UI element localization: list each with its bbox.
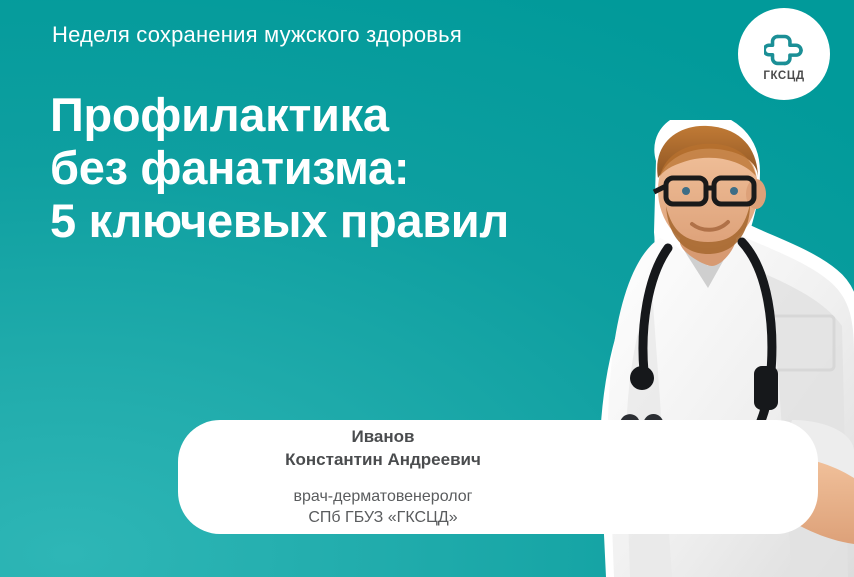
campaign-eyebrow-text: Неделя сохранения мужского здоровья [52, 22, 462, 48]
speaker-surname: Иванов [285, 426, 481, 449]
speaker-specialty: врач-дерматовенеролог [294, 486, 473, 507]
page-title: Профилактика без фанатизма: 5 ключевых п… [50, 88, 509, 247]
headline-line-3: 5 ключевых правил [50, 194, 509, 247]
speaker-card: Иванов Константин Андреевич врач-дермато… [178, 420, 818, 534]
speaker-role: врач-дерматовенеролог СПб ГБУЗ «ГКСЦД» [294, 486, 473, 528]
logo-abbreviation: ГКСЦД [763, 70, 804, 82]
speaker-given-name: Константин Андреевич [285, 449, 481, 472]
promo-banner: Неделя сохранения мужского здоровья Проф… [0, 0, 854, 577]
speaker-name: Иванов Константин Андреевич [285, 426, 481, 472]
logo-badge: ГКСЦД [738, 8, 830, 100]
headline-line-1: Профилактика [50, 88, 509, 141]
medical-cross-icon [764, 29, 804, 67]
headline-line-2: без фанатизма: [50, 141, 509, 194]
speaker-organization: СПб ГБУЗ «ГКСЦД» [294, 507, 473, 528]
speaker-card-content: Иванов Константин Андреевич врач-дермато… [178, 420, 588, 534]
